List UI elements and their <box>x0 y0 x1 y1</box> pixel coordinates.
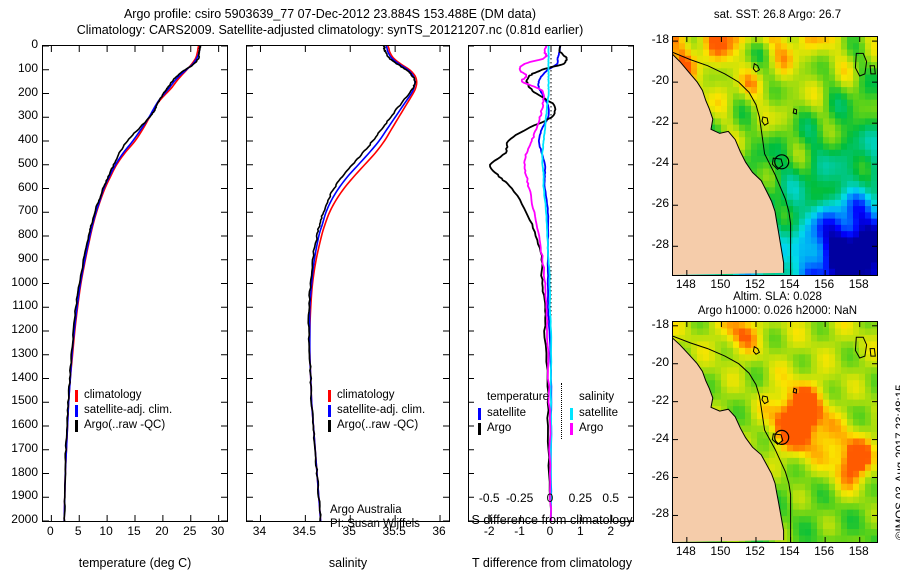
swatch-climatology <box>75 390 78 402</box>
legend-item: Argo <box>478 421 549 436</box>
t-difference-tick-label: 0 <box>536 524 564 538</box>
swatch-satellite-adj <box>75 405 78 417</box>
map-lat-tick-label: -28 <box>636 237 669 251</box>
map-sst-title: sat. SST: 26.8 Argo: 26.7 <box>660 8 895 22</box>
legend-item: satellite-adj. clim. <box>328 403 425 418</box>
temperature-tick-label: 25 <box>176 524 204 538</box>
t-difference-tick-label: -1 <box>506 524 534 538</box>
depth-tick-label: 2000 <box>0 512 38 526</box>
depth-tick-label: 1200 <box>0 322 38 336</box>
map-lat-tick-label: -20 <box>636 355 669 369</box>
depth-tick-label: 400 <box>0 132 38 146</box>
temperature-tick-label: 10 <box>92 524 120 538</box>
map-lat-tick-label: -28 <box>636 506 669 520</box>
panel-salinity <box>246 45 450 522</box>
salinity-tick-label: 35.5 <box>374 524 414 538</box>
legend-item: satellite-adj. clim. <box>75 403 172 418</box>
map-lon-tick-label: 158 <box>843 544 875 558</box>
salinity-tick-label: 34 <box>239 524 279 538</box>
map-sla-title-line-2: Argo h1000: 0.026 h2000: NaN <box>660 304 895 318</box>
legend-label: satellite-adj. clim. <box>337 403 425 418</box>
temperature-tick-label: 0 <box>36 524 64 538</box>
legend-item: Argo(..raw -QC) <box>75 418 172 433</box>
map-sst-title-text: sat. SST: 26.8 Argo: 26.7 <box>714 9 841 21</box>
legend-difference-temperature: temperature satellite Argo <box>478 390 549 436</box>
depth-tick-label: 800 <box>0 227 38 241</box>
depth-tick-label: 1700 <box>0 441 38 455</box>
map-lat-tick-label: -24 <box>636 155 669 169</box>
salinity-tick-label: 35 <box>329 524 369 538</box>
map-lat-tick-label: -18 <box>636 32 669 46</box>
swatch-sal-satellite <box>570 408 573 420</box>
map-lon-tick-label: 152 <box>739 544 771 558</box>
depth-tick-label: 1800 <box>0 465 38 479</box>
t-difference-tick-label: 1 <box>566 524 594 538</box>
title-line-1: Argo profile: csiro 5903639_77 07-Dec-20… <box>0 6 660 22</box>
legend-label: satellite-adj. clim. <box>84 403 172 418</box>
depth-tick-label: 900 <box>0 251 38 265</box>
swatch-argo <box>75 420 78 432</box>
swatch-temp-satellite <box>478 408 481 420</box>
legend-item: satellite <box>478 406 549 421</box>
map-lon-tick-label: 152 <box>739 277 771 291</box>
map-lat-tick-label: -26 <box>636 469 669 483</box>
legend-label: satellite <box>579 406 618 421</box>
legend-label: Argo <box>487 421 511 436</box>
depth-tick-label: 0 <box>0 37 38 51</box>
swatch-argo <box>328 420 331 432</box>
map-lon-tick-label: 150 <box>704 544 736 558</box>
map-lat-tick-label: -22 <box>636 114 669 128</box>
legend-label: climatology <box>337 388 395 403</box>
t-difference-tick-label: 2 <box>597 524 625 538</box>
map-lon-tick-label: 156 <box>808 277 840 291</box>
map-lon-tick-label: 154 <box>774 277 806 291</box>
depth-tick-label: 500 <box>0 156 38 170</box>
map-sla-title-line-1: Altim. SLA: 0.028 <box>660 290 895 304</box>
credit-line-1: Argo Australia <box>330 503 420 517</box>
title-line-2: Climatology: CARS2009. Satellite-adjuste… <box>0 22 660 38</box>
copyright-label: ©IMOS 03-Aug-2017 23:48:15 <box>895 384 900 540</box>
legend-label: Argo <box>579 421 603 436</box>
legend-label: satellite <box>487 406 526 421</box>
map-lon-tick-label: 158 <box>843 277 875 291</box>
depth-tick-label: 600 <box>0 180 38 194</box>
legend-difference-salinity: salinity satellite Argo <box>570 390 618 436</box>
temperature-tick-label: 20 <box>148 524 176 538</box>
map-sst <box>672 36 878 276</box>
map-lon-tick-label: 154 <box>774 544 806 558</box>
xaxis-title-t-difference: T difference from climatology <box>462 556 642 570</box>
legend-salinity: climatology satellite-adj. clim. Argo(..… <box>328 388 425 433</box>
map-sla-title: Altim. SLA: 0.028 Argo h1000: 0.026 h200… <box>660 290 895 318</box>
salinity-tick-label: 36 <box>419 524 459 538</box>
xaxis-title-salinity: salinity <box>246 556 450 570</box>
legend-item: climatology <box>75 388 172 403</box>
map-lat-tick-label: -18 <box>636 317 669 331</box>
swatch-sal-argo <box>570 423 573 435</box>
depth-tick-label: 1100 <box>0 298 38 312</box>
temperature-tick-label: 5 <box>64 524 92 538</box>
legend-item: Argo <box>570 421 618 436</box>
xaxis-title-temperature: temperature (deg C) <box>42 556 228 570</box>
legend-header-salinity: salinity <box>570 390 618 405</box>
swatch-temp-argo <box>478 423 481 435</box>
depth-tick-label: 1900 <box>0 488 38 502</box>
map-lon-tick-label: 148 <box>670 277 702 291</box>
map-sla <box>672 321 878 543</box>
panel-temperature <box>42 45 228 522</box>
legend-label: Argo(..raw -QC) <box>84 418 165 433</box>
legend-item: climatology <box>328 388 425 403</box>
depth-tick-label: 1300 <box>0 346 38 360</box>
t-difference-tick-label: -2 <box>475 524 503 538</box>
map-lat-tick-label: -24 <box>636 431 669 445</box>
depth-tick-label: 100 <box>0 61 38 75</box>
legend-item: satellite <box>570 406 618 421</box>
map-lon-tick-label: 148 <box>670 544 702 558</box>
map-lat-tick-label: -26 <box>636 196 669 210</box>
legend-temperature: climatology satellite-adj. clim. Argo(..… <box>75 388 172 433</box>
legend-divider <box>561 383 562 439</box>
map-lat-tick-label: -22 <box>636 393 669 407</box>
map-lon-tick-label: 150 <box>704 277 736 291</box>
page-title: Argo profile: csiro 5903639_77 07-Dec-20… <box>0 6 660 38</box>
temperature-tick-label: 30 <box>204 524 232 538</box>
legend-item: Argo(..raw -QC) <box>328 418 425 433</box>
swatch-climatology <box>328 390 331 402</box>
panel-difference <box>468 45 634 522</box>
map-lat-tick-label: -20 <box>636 73 669 87</box>
depth-tick-label: 1400 <box>0 370 38 384</box>
depth-tick-label: 1500 <box>0 393 38 407</box>
swatch-satellite-adj <box>328 405 331 417</box>
depth-tick-label: 1000 <box>0 275 38 289</box>
legend-header-temperature: temperature <box>478 390 549 405</box>
map-lon-tick-label: 156 <box>808 544 840 558</box>
salinity-tick-label: 34.5 <box>284 524 324 538</box>
legend-label: Argo(..raw -QC) <box>337 418 418 433</box>
depth-tick-label: 1600 <box>0 417 38 431</box>
depth-tick-label: 700 <box>0 203 38 217</box>
legend-label: climatology <box>84 388 142 403</box>
s-difference-tick-label: 0.5 <box>591 491 631 505</box>
depth-tick-label: 300 <box>0 108 38 122</box>
temperature-tick-label: 15 <box>120 524 148 538</box>
depth-tick-label: 200 <box>0 85 38 99</box>
